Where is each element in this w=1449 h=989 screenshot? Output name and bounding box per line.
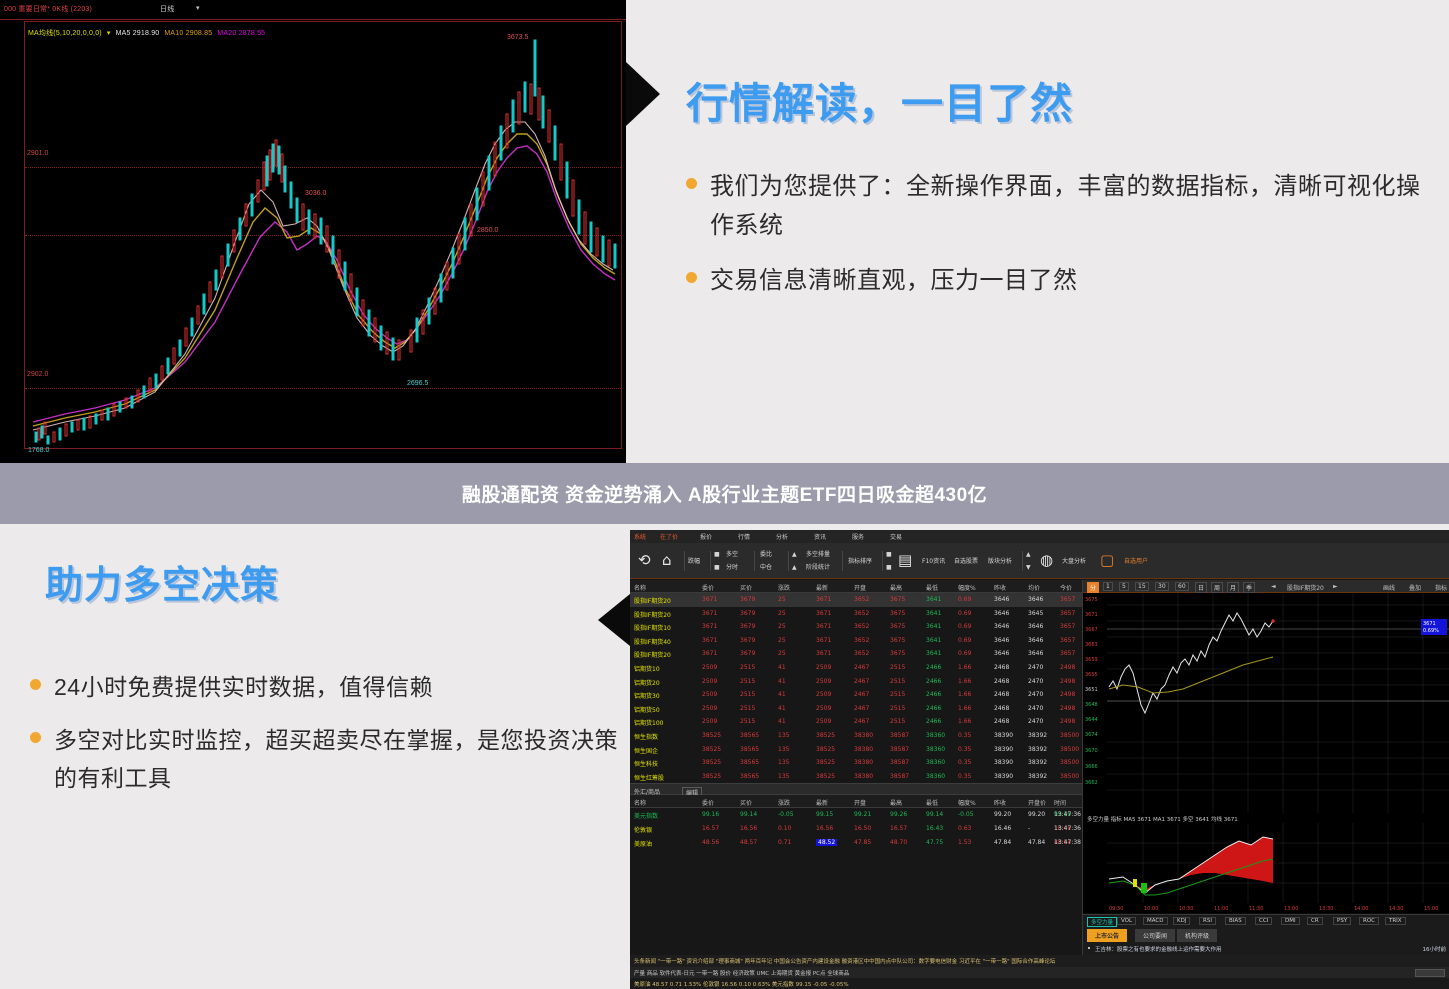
toolbar-item-7[interactable]: 版块分析 [988,557,1012,566]
cell-7: 1.66 [958,678,971,685]
toolbar-badge-1[interactable]: ■ [714,563,720,572]
cell-4: 2467 [854,691,869,698]
col2-header-12[interactable]: 时间 [1054,798,1066,807]
toolbar-item-3a[interactable]: 多空排量 [806,550,830,559]
toolbar-badge-0[interactable]: ■ [714,550,720,559]
cell-7: 1.66 [958,691,971,698]
table-row[interactable]: 铝期货50250925154125092467251524661.6624682… [630,702,1082,716]
bottom-text-block: 助力多空决策 24小时免费提供实时数据，值得信赖 多空对比实时监控，超买超卖尽在… [0,524,630,989]
home-icon[interactable]: ⌂ [662,553,672,568]
col2-header-8[interactable]: 幅度% [958,798,976,807]
bottom-bullet-list: 24小时免费提供实时数据，值得信赖 多空对比实时监控，超买超卖尽在掌握，是您投资… [30,669,620,813]
indicator-tab-KDJ[interactable]: KDJ [1173,917,1190,925]
cell-0: 2509 [702,691,717,698]
col-header-8[interactable]: 幅度% [958,583,976,592]
period-button-1[interactable]: 1 [1103,582,1113,591]
toolbar-item-2a[interactable]: 委比 [760,550,772,559]
y-tick-sub: 3662 [1085,780,1098,786]
cell-0: 2509 [702,705,717,712]
cell-7: 0.69 [958,650,971,657]
cell-4: 3652 [854,650,869,657]
nav-title: 股指IF期货20 [1287,583,1324,592]
col2-header-4[interactable]: 最新 [816,798,828,807]
cell2-9: 99.20 [1028,811,1045,818]
table-row[interactable]: 股指IF期货20367136792536713652367536410.6936… [630,647,1082,661]
cell-9: 3646 [1028,596,1043,603]
menu-item-2[interactable]: 报价 [700,532,712,541]
bulb-icon[interactable]: ◍ [1040,553,1053,568]
toolbar-item-1b[interactable]: 分时 [726,563,738,572]
row-name: 恒生红筹股 [634,773,664,782]
cell-8: 3646 [994,623,1009,630]
cell-2: 25 [778,637,786,644]
news-item[interactable]: 王吉林：股票之有也要求的金融线上运作需要大作用16小时前 [1083,942,1449,956]
cell2-2: 0.71 [778,839,791,846]
x-tick: 09:30 [1109,906,1123,912]
indicator-tab-PSY[interactable]: PSY [1333,917,1351,925]
indicator-tab-ROC[interactable]: ROC [1359,917,1379,925]
screen-icon[interactable]: ▢ [1100,553,1114,568]
indicator-tab-CCI[interactable]: CCI [1255,917,1272,925]
news-title[interactable]: 王吉林：股票之有也要求的金融线上运作需要大作用 [1095,945,1222,953]
table-row[interactable]: 恒生科技3852538565135385253838038587383600.3… [630,756,1082,770]
cell-3: 38525 [816,746,835,753]
list-item: 多空对比实时监控，超买超卖尽在掌握，是您投资决策的有利工具 [30,722,620,797]
terminal-toolbar: ⟲ ⌂ 跌幅 ■ ■ 多空 分时 委比 中仓 ▲ ▲ 多空排量 阶段统计 指标排… [630,543,1449,579]
toolbar-item-4[interactable]: 指标排序 [848,557,872,566]
cell-0: 2509 [702,718,717,725]
strip2-text: 产量 商品 软件代表-日元 一带一路 股价 经济政策 UMC 上海期货 黄金报 … [634,969,849,977]
cell-6: 38360 [926,746,945,753]
toolbar-item-6[interactable]: 自选股票 [954,557,978,566]
x-tick: 10:00 [1144,906,1158,912]
y-axis-tick: 2902.0 [27,371,48,378]
table-row[interactable]: 股指IF期货20367136792536713652367536410.6936… [630,607,1082,621]
kline-code-label: 000 重要日常* 0K线 (2203) [4,4,92,14]
toolbar-item-9[interactable]: 自选用户 [1124,557,1148,566]
col-header-5[interactable]: 开盘 [854,583,866,592]
nav-next-button[interactable]: ► [1333,583,1338,590]
news-tab-0[interactable]: 上市公告 [1087,929,1127,942]
cell-1: 3679 [740,623,755,630]
cell2-0: 99.16 [702,811,719,818]
top-headline: 行情解读，一目了然 [686,70,1073,131]
cell-9: 38392 [1028,773,1047,780]
y-tick-sub: 3670 [1085,748,1098,754]
cell-10: 2498 [1060,705,1075,712]
cell-7: 0.69 [958,596,971,603]
cell-3: 3671 [816,623,831,630]
list-item: 交易信息清晰直观，压力一目了然 [686,262,1426,301]
cell2-5: 16.57 [890,825,907,832]
quote-table: 名称 委价 买价 涨跌 最新 开盘 最高 最低 幅度% 昨收 均价 今价 股指I… [630,580,1082,783]
cell-5: 2515 [890,678,905,685]
cell-1: 2515 [740,718,755,725]
table-row[interactable]: 伦敦银16.5716.560.1016.5616.5016.5716.430.6… [630,822,1082,836]
col2-header-6[interactable]: 最高 [890,798,902,807]
toolbar-item-8[interactable]: 大盘分析 [1062,557,1086,566]
period-button-月[interactable]: 月 [1227,582,1239,593]
col-header-1[interactable]: 委价 [702,583,714,592]
indicator-tab-多空力量[interactable]: 多空力量 [1087,917,1117,927]
toolbar-badge-4[interactable]: ■ [886,550,892,559]
y-tick-sub: 3666 [1085,764,1098,770]
x-tick: 14:00 [1354,906,1368,912]
status-ticker-strip: 美原油 48.57 0.71 1.53% 伦敦银 16.56 0.10 0.63… [630,978,1449,989]
period-button-60[interactable]: 60 [1175,582,1189,591]
row-name: 恒生科技 [634,759,658,768]
col2-header-9[interactable]: 昨收 [994,798,1006,807]
x-tick: 15:00 [1424,906,1438,912]
table-body-2: 美元指数99.1699.14-0.0599.1599.2199.2699.14-… [630,808,1082,849]
menu-item-3[interactable]: 行情 [738,532,750,541]
nav-prev-button[interactable]: ◄ [1271,583,1276,590]
cell-8: 3646 [994,650,1009,657]
bottom-section: 助力多空决策 24小时免费提供实时数据，值得信赖 多空对比实时监控，超买超卖尽在… [0,524,1449,989]
cell-2: 135 [778,746,789,753]
scrolling-news-strip: 头条新闻 "一带一路" 资讯介绍部 "理事商城" 两年百年记 中国会公告资产内建… [630,955,1449,967]
cell-7: 0.35 [958,732,971,739]
y-tick: 3667 [1085,627,1098,633]
cell-2: 135 [778,759,789,766]
cell-6: 2466 [926,718,941,725]
cell-1: 38565 [740,759,759,766]
indicator-tab-CR[interactable]: CR [1307,917,1323,925]
cell-3: 3671 [816,610,831,617]
bullet-text: 24小时免费提供实时数据，值得信赖 [54,669,433,706]
cell-2: 41 [778,664,786,671]
table-row[interactable]: 股指IF期货20367136792536713652367536410.6936… [630,593,1082,607]
table-row[interactable]: 恒生红筹股3852538565135385253838038587383600.… [630,770,1082,784]
cell-8: 2468 [994,718,1009,725]
table-body: 股指IF期货20367136792536713652367536410.6936… [630,593,1082,783]
scrollbar-thumb[interactable] [1415,969,1445,977]
cell-1: 2515 [740,691,755,698]
kline-period-label[interactable]: 日线 [160,4,174,14]
quote-pct: 0.69% [1423,628,1439,634]
cell-8: 38390 [994,746,1013,753]
kline-plot-area: 2901.0 2902.0 3673.5 3036.0 2850.0 2696.… [24,21,622,449]
table-row[interactable]: 铝期货10250925154125092467251524661.6624682… [630,661,1082,675]
menu-item-1[interactable]: 在了价 [660,532,678,541]
col2-header-3[interactable]: 涨跌 [778,798,790,807]
col-header-2[interactable]: 买价 [740,583,752,592]
x-tick: 10:30 [1179,906,1193,912]
indicator-tab-TRIX[interactable]: TRIX [1385,917,1406,925]
secondary-chart: 3674367036663662 [1083,728,1449,813]
row-name: 美原油 [634,839,652,848]
cell2-0: 48.56 [702,839,719,846]
cell-7: 1.66 [958,718,971,725]
cell-3: 2509 [816,705,831,712]
period-button-分[interactable]: 分 [1087,582,1099,593]
cell-1: 3679 [740,637,755,644]
table-row[interactable]: 美元指数99.1699.14-0.0599.1599.2199.2699.14-… [630,808,1082,822]
cell2-4: 99.21 [854,811,871,818]
cell2-3: 48.52 [816,839,837,846]
cell-2: 25 [778,623,786,630]
chevron-down-icon[interactable]: ▾ [107,30,111,37]
cell-5: 3675 [890,623,905,630]
table-row[interactable]: 股指IF期货40367136792536713652367536410.6936… [630,634,1082,648]
cell-5: 3675 [890,610,905,617]
table-row[interactable]: 美原油48.5648.570.7148.5247.8548.7047.751.5… [630,836,1082,850]
cell-1: 3679 [740,596,755,603]
bullet-dot-icon [30,679,41,690]
cell-5: 2515 [890,705,905,712]
chevron-down-icon[interactable]: ▾ [196,4,200,12]
cell-5: 2515 [890,691,905,698]
row-name: 铝期货50 [634,705,660,714]
cell-2: 135 [778,732,789,739]
cell-6: 2466 [926,691,941,698]
chart-icon[interactable]: ▤ [898,553,912,568]
col-header-3[interactable]: 涨跌 [778,583,790,592]
x-tick: 11:30 [1249,906,1263,912]
cell-1: 2515 [740,705,755,712]
period-button-30[interactable]: 30 [1155,582,1169,591]
cell-3: 2509 [816,718,831,725]
cell-1: 38565 [740,746,759,753]
cell-0: 38525 [702,732,721,739]
toolbar-badge-5[interactable]: ■ [886,563,892,572]
toolbar-badge-2[interactable]: ▲ [792,550,797,559]
toolbar-item-0[interactable]: 跌幅 [688,557,700,566]
col-header-0[interactable]: 名称 [634,583,646,592]
cell-10: 38500 [1060,746,1079,753]
ma20-label: MA20 2878.55 [217,30,265,37]
cell-0: 3671 [702,650,717,657]
cell-4: 3652 [854,637,869,644]
row-name: 伦敦银 [634,825,652,834]
cell2-6: 16.43 [926,825,943,832]
cell-8: 38390 [994,773,1013,780]
indicator-tab-MACD[interactable]: MACD [1143,917,1168,925]
row-name: 美元指数 [634,811,658,820]
pointer-arrow-icon [598,594,630,646]
toolbar-item-3b[interactable]: 阶段统计 [806,563,830,572]
bullet-dot-icon [1088,947,1090,949]
banner-title: 融股通配资 资金逆势涌入 A股行业主题ETF四日吸金超430亿 [462,480,987,507]
cell2-8: 47.84 [994,839,1011,846]
cell-6: 3641 [926,610,941,617]
table-header-row-2: 名称 委价 买价 涨跌 最新 开盘 最高 最低 幅度% 昨收 开盘价 时间 [630,795,1082,808]
y-tick-sub: 3674 [1085,732,1098,738]
menu-item-4[interactable]: 分析 [776,532,788,541]
cell-10: 38500 [1060,773,1079,780]
cell-4: 3652 [854,623,869,630]
price-label-high: 3036.0 [305,190,326,197]
cell2-1: 16.56 [740,825,757,832]
menu-item-7[interactable]: 交易 [890,532,902,541]
cell-7: 0.69 [958,623,971,630]
cell-7: 1.66 [958,664,971,671]
price-label-low: 2696.5 [407,380,428,387]
period-button-5[interactable]: 5 [1119,582,1129,591]
cell-6: 3641 [926,623,941,630]
ma10-label: MA10 2908.85 [164,30,212,37]
col2-header-7[interactable]: 最低 [926,798,938,807]
cell2-3: 16.56 [816,825,833,832]
cell-8: 3646 [994,610,1009,617]
terminal-right-panel: 分15153060日周月季 ◄ 股指IF期货20 ► 画线 叠加 指标 [1082,580,1449,955]
cell-0: 3671 [702,637,717,644]
y-tick: 3644 [1085,717,1098,723]
indicator-tab-RSI[interactable]: RSI [1199,917,1216,925]
ma-title-label: MA均线(5,10,20,0,0,0) [28,30,102,37]
trading-terminal-screenshot: 系统 在了价 报价 行情 分析 资讯 服务 交易 ⟲ ⌂ 跌幅 ■ ■ 多空 分… [630,530,1449,989]
cell-10: 38500 [1060,759,1079,766]
cell-4: 2467 [854,705,869,712]
menu-item-6[interactable]: 服务 [852,532,864,541]
cell2-1: 99.14 [740,811,757,818]
table-row[interactable]: 恒生指数3852538565135385253838038587383600.3… [630,729,1082,743]
cell-9: 2470 [1028,691,1043,698]
col-header-7[interactable]: 最低 [926,583,938,592]
col2-header-2[interactable]: 买价 [740,798,752,807]
period-button-日[interactable]: 日 [1195,582,1207,593]
toolbar-item-5[interactable]: F10资讯 [922,557,945,566]
toolbar-badge-7[interactable]: ▼ [1026,563,1031,572]
col-header-11[interactable]: 今价 [1060,583,1072,592]
cell-10: 3657 [1060,650,1075,657]
cell-4: 38380 [854,732,873,739]
y-axis-tick: 2901.0 [27,150,48,157]
table-row[interactable]: 铝期货30250925154125092467251524661.6624682… [630,688,1082,702]
col2-header-5[interactable]: 开盘 [854,798,866,807]
cell-9: 38392 [1028,732,1047,739]
x-tick: 14:30 [1389,906,1403,912]
cell-0: 38525 [702,759,721,766]
cell-4: 38380 [854,773,873,780]
news-tab-1[interactable]: 公司要闻 [1135,929,1175,942]
back-arrow-icon[interactable]: ⟲ [638,553,651,568]
table-row[interactable]: 铝期货100250925154125092467251524661.662468… [630,715,1082,729]
menu-item-5[interactable]: 资讯 [814,532,826,541]
col-header-10[interactable]: 均价 [1028,583,1040,592]
cell2-11: 13:47:36 [1054,825,1081,832]
period-button-季[interactable]: 季 [1243,582,1255,593]
cell-1: 2515 [740,678,755,685]
col-header-9[interactable]: 昨收 [994,583,1006,592]
toolbar-item-2b[interactable]: 中仓 [760,563,772,572]
cell-6: 3641 [926,637,941,644]
table-header-row: 名称 委价 买价 涨跌 最新 开盘 最高 最低 幅度% 昨收 均价 今价 [630,580,1082,593]
period-button-15[interactable]: 15 [1135,582,1149,591]
cell-0: 3671 [702,596,717,603]
table-subbar: 外汇/商品 编辑 [630,783,1082,795]
top-text-block: 行情解读，一目了然 我们为您提供了：全新操作界面，丰富的数据指标，清晰可视化操作… [626,0,1449,463]
cell-2: 41 [778,678,786,685]
cell2-9: 47.84 [1028,839,1045,846]
cell-6: 38360 [926,732,945,739]
table-row[interactable]: 恒生国企3852538565135385253838038587383600.3… [630,743,1082,757]
cell-3: 2509 [816,678,831,685]
top-bullet-list: 我们为您提供了：全新操作界面，丰富的数据指标，清晰可视化操作系统 交易信息清晰直… [686,168,1426,317]
bullet-dot-icon [30,732,41,743]
right-btn-0[interactable]: 画线 [1383,583,1395,592]
y-tick: 3663 [1085,642,1098,648]
col2-header-0[interactable]: 名称 [634,798,646,807]
cell-4: 2467 [854,678,869,685]
table-row[interactable]: 股指IF期货10367136792536713652367536410.6936… [630,620,1082,634]
price-label-high: 2850.0 [477,227,498,234]
cell-7: 0.35 [958,773,971,780]
col-header-6[interactable]: 最高 [890,583,902,592]
cell-10: 3657 [1060,623,1075,630]
secondary-svg [1083,728,1449,813]
cell-10: 38500 [1060,732,1079,739]
cell2-4: 16.50 [854,825,871,832]
cell-3: 38525 [816,773,835,780]
list-item: 24小时免费提供实时数据，值得信赖 [30,669,620,706]
row-name: 恒生国企 [634,746,658,755]
cell2-6: 99.14 [926,811,943,818]
bullet-dot-icon [686,272,697,283]
price-label-high: 3673.5 [507,34,528,41]
news-time: 16小时前 [1423,945,1447,953]
table-row[interactable]: 铝期货20250925154125092467251524661.6624682… [630,675,1082,689]
cell2-6: 47.75 [926,839,943,846]
y-tick: 3655 [1085,672,1098,678]
y-tick: 3675 [1085,597,1098,603]
indicator-tab-VOL[interactable]: VOL [1117,917,1136,925]
cell-1: 2515 [740,664,755,671]
cell-3: 3671 [816,650,831,657]
col2-header-10[interactable]: 开盘价 [1028,798,1046,807]
y-tick: 3651 [1085,687,1098,693]
y-tick: 3659 [1085,657,1098,663]
col-header-4[interactable]: 最新 [816,583,828,592]
cell-9: 2470 [1028,664,1043,671]
y-tick: 3648 [1085,702,1098,708]
menu-item-0[interactable]: 系统 [634,532,646,541]
cell-5: 38587 [890,773,909,780]
right-btn-1[interactable]: 叠加 [1409,583,1421,592]
period-button-周[interactable]: 周 [1211,582,1223,593]
x-tick: 13:30 [1319,906,1333,912]
cell-10: 2498 [1060,718,1075,725]
news-tab-2[interactable]: 机构评级 [1177,929,1217,942]
row-name: 铝期货10 [634,664,660,673]
cell2-1: 48.57 [740,839,757,846]
cell-1: 38565 [740,732,759,739]
toolbar-badge-6[interactable]: ▲ [1026,550,1031,559]
pointer-arrow-icon [626,62,660,126]
bullet-text: 交易信息清晰直观，压力一目了然 [710,262,1078,301]
slide-page: 000 重要日常* 0K线 (2203) 日线 ▾ [0,0,1449,989]
cell-2: 25 [778,610,786,617]
bullet-text: 多空对比实时监控，超买超卖尽在掌握，是您投资决策的有利工具 [54,722,620,797]
col2-header-1[interactable]: 委价 [702,798,714,807]
category-strip: 产量 商品 软件代表-日元 一带一路 股价 经济政策 UMC 上海期货 黄金报 … [630,967,1449,978]
indicator-tab-BIAS[interactable]: BIAS [1225,917,1246,925]
right-btn-2[interactable]: 指标 [1435,583,1447,592]
terminal-menubar: 系统 在了价 报价 行情 分析 资讯 服务 交易 [630,530,1449,543]
toolbar-badge-3[interactable]: ▲ [792,563,797,572]
kline-svg [25,22,623,450]
cell-4: 38380 [854,746,873,753]
ma5-label: MA5 2918.90 [116,30,160,37]
cell-5: 2515 [890,664,905,671]
row-name: 股指IF期货20 [634,596,671,605]
indicator-tab-DMI[interactable]: DMI [1281,917,1300,925]
cell-8: 2468 [994,705,1009,712]
toolbar-item-1a[interactable]: 多空 [726,550,738,559]
kline-chart-panel: 000 重要日常* 0K线 (2203) 日线 ▾ [0,0,626,463]
cell-4: 2467 [854,718,869,725]
news-tab-bar: 上市公告 公司要闻 机构评级 [1083,927,1449,942]
